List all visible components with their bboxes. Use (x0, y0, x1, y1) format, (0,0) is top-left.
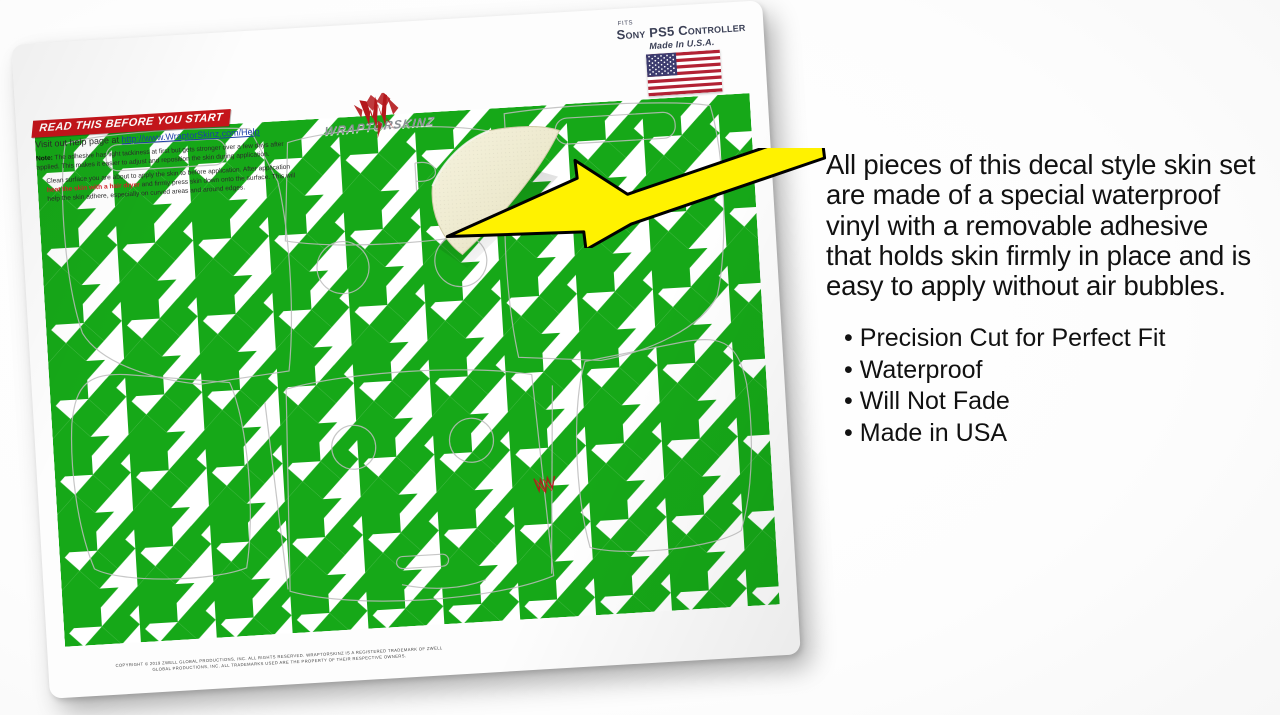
skin-sheet: READ THIS BEFORE YOU START Visit out hel… (11, 0, 801, 698)
feature-bullet-list: •Precision Cut for Perfect Fit •Waterpro… (844, 323, 1256, 449)
usa-flag-icon (645, 50, 722, 97)
fits-product-block: FITS Sony PS5 Controller Made In U.S.A. (615, 13, 749, 98)
list-item: •Made in USA (844, 418, 1256, 450)
bullet-label: Will Not Fade (860, 387, 1010, 415)
list-item: •Precision Cut for Perfect Fit (844, 323, 1256, 355)
yellow-left-arrow-icon (430, 148, 830, 248)
sheet-paper: READ THIS BEFORE YOU START Visit out hel… (11, 0, 801, 698)
wraptorskinz-logo: WRAPTORSKINZ (315, 88, 468, 155)
bullet-label: Waterproof (860, 356, 983, 384)
marketing-callout: All pieces of this decal style skin set … (826, 150, 1256, 449)
bullet-icon: • (844, 387, 853, 415)
note-label: Note: (36, 155, 53, 163)
callout-paragraph: All pieces of this decal style skin set … (826, 150, 1256, 301)
list-item: •Waterproof (844, 355, 1256, 387)
bullet-icon: • (844, 356, 853, 384)
bullet-label: Precision Cut for Perfect Fit (860, 324, 1166, 352)
list-item: •Will Not Fade (844, 386, 1256, 418)
logo-w-mark (315, 88, 468, 155)
bullet-icon: • (844, 419, 853, 447)
bullet-label: Made in USA (860, 419, 1007, 447)
image-canvas: READ THIS BEFORE YOU START Visit out hel… (0, 0, 1280, 715)
copyright-notice: Copyright © 2019 Zwell Global Production… (114, 646, 444, 676)
bullet-icon: • (844, 324, 853, 352)
